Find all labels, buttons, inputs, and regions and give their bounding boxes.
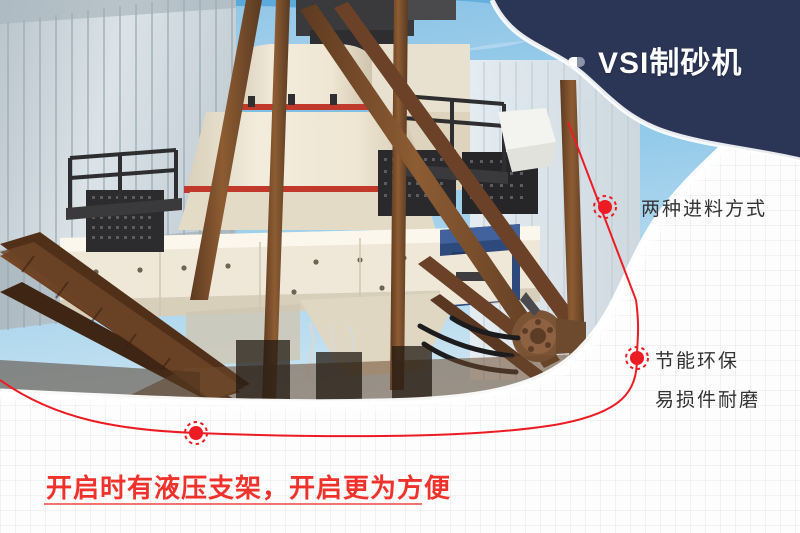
caption-underline bbox=[44, 503, 422, 505]
banner-stage: VSI制砂机 两种进料方式 节能环保 易损件耐磨 bbox=[0, 0, 800, 533]
title-bullet-icon bbox=[568, 57, 585, 67]
annotation-label-feed-modes: 两种进料方式 bbox=[641, 194, 767, 221]
callout-marker-1 bbox=[594, 196, 616, 218]
annotation-label-energy-saving: 节能环保 bbox=[655, 346, 739, 373]
annotation-label-wear-parts: 易损件耐磨 bbox=[655, 385, 760, 412]
bottom-caption: 开启时有液压支架，开启更为方便 bbox=[46, 468, 451, 505]
page-title: VSI制砂机 bbox=[598, 38, 742, 82]
